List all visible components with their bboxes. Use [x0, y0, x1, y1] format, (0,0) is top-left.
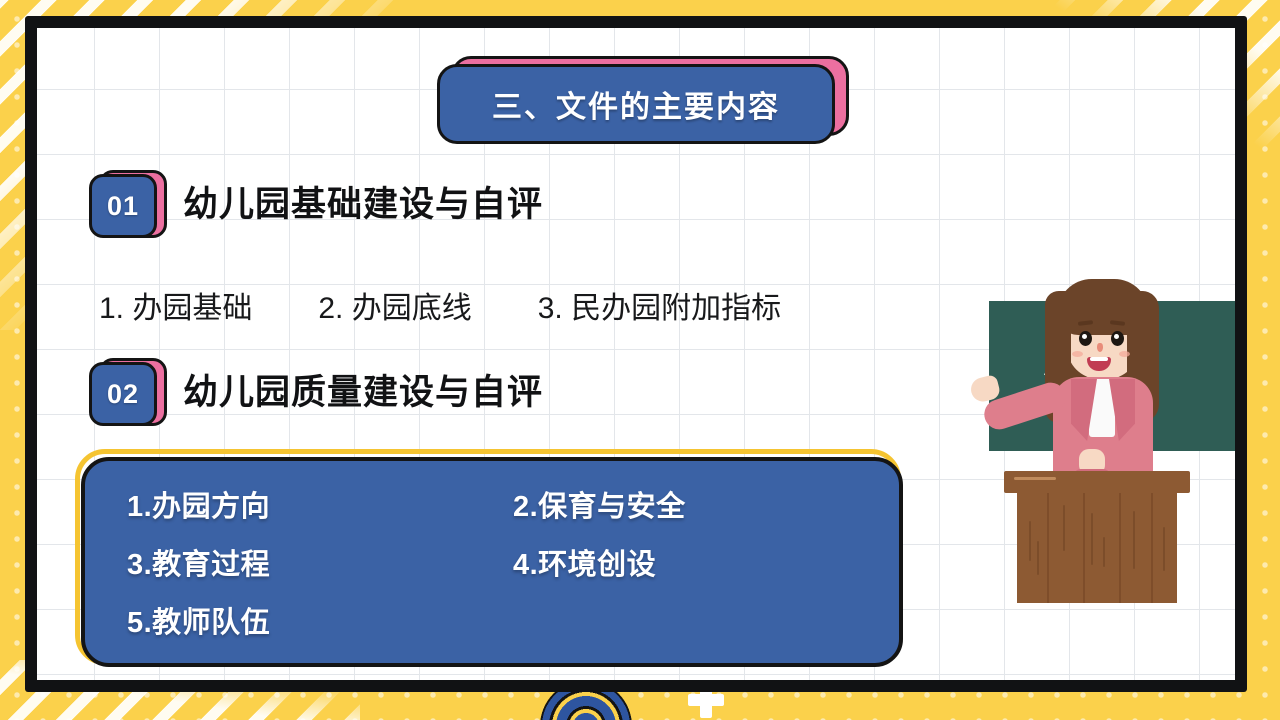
badge-body: 02 — [89, 362, 157, 426]
section-title-02: 幼儿园质量建设与自评 — [183, 364, 543, 415]
nose — [1097, 343, 1103, 352]
eye-left — [1079, 331, 1092, 346]
teacher-figure — [1027, 273, 1177, 503]
podium-plank — [1151, 493, 1153, 603]
section-heading-02: 02 幼儿园质量建设与自评 — [89, 358, 543, 420]
badge-number: 01 — [107, 191, 139, 222]
sub-item-2: 2. 办园底线 — [318, 283, 471, 327]
badge-body: 01 — [89, 174, 157, 238]
panel-item-3: 3.教育过程 — [127, 541, 513, 583]
cheek-right — [1119, 351, 1130, 357]
section-badge-01: 01 — [89, 170, 161, 232]
slide-root: 三、文件的主要内容 01 幼儿园基础建设与自评 1. 办园基础 2. 办园底线 … — [0, 0, 1280, 720]
slide-frame: 三、文件的主要内容 01 幼儿园基础建设与自评 1. 办园基础 2. 办园底线 … — [25, 16, 1247, 692]
quality-items-panel: 1.办园方向 2.保育与安全 3.教育过程 4.环境创设 5.教师队伍 — [75, 449, 905, 669]
podium-grain — [1133, 511, 1135, 569]
sub-item-list: 1. 办园基础 2. 办园底线 3. 民办园附加指标 — [99, 283, 781, 327]
page-title: 三、文件的主要内容 — [492, 82, 780, 126]
section-badge-02: 02 — [89, 358, 161, 420]
podium-grain — [1103, 537, 1105, 567]
podium-plank — [1083, 493, 1085, 603]
panel-body: 1.办园方向 2.保育与安全 3.教育过程 4.环境创设 5.教师队伍 — [81, 457, 903, 667]
sub-item-1: 1. 办园基础 — [99, 283, 252, 327]
podium-top — [1004, 471, 1190, 493]
slide-canvas: 三、文件的主要内容 01 幼儿园基础建设与自评 1. 办园基础 2. 办园底线 … — [37, 28, 1235, 680]
podium-plank — [1047, 493, 1049, 603]
panel-item-1: 1.办园方向 — [127, 483, 513, 525]
panel-item-4: 4.环境创设 — [513, 541, 899, 583]
podium-grain — [1163, 527, 1165, 571]
podium-body — [1017, 493, 1177, 603]
podium-plank — [1119, 493, 1121, 603]
panel-item-5: 5.教师队伍 — [127, 599, 513, 641]
badge-number: 02 — [107, 379, 139, 410]
section-heading-01: 01 幼儿园基础建设与自评 — [89, 170, 543, 232]
eye-right — [1111, 331, 1124, 346]
podium-grain — [1091, 513, 1093, 565]
panel-item-2: 2.保育与安全 — [513, 483, 899, 525]
podium-grain — [1063, 505, 1065, 551]
podium-grain — [1037, 541, 1039, 575]
section-title-01: 幼儿园基础建设与自评 — [183, 176, 543, 227]
podium — [1004, 471, 1190, 606]
podium-grain — [1029, 521, 1031, 561]
title-banner: 三、文件的主要内容 — [437, 50, 837, 132]
cheek-left — [1072, 351, 1083, 357]
teacher-illustration: ABCDEFG HIJKLMN — [949, 273, 1235, 613]
title-banner-body: 三、文件的主要内容 — [437, 64, 835, 144]
sub-item-3: 3. 民办园附加指标 — [538, 283, 781, 327]
